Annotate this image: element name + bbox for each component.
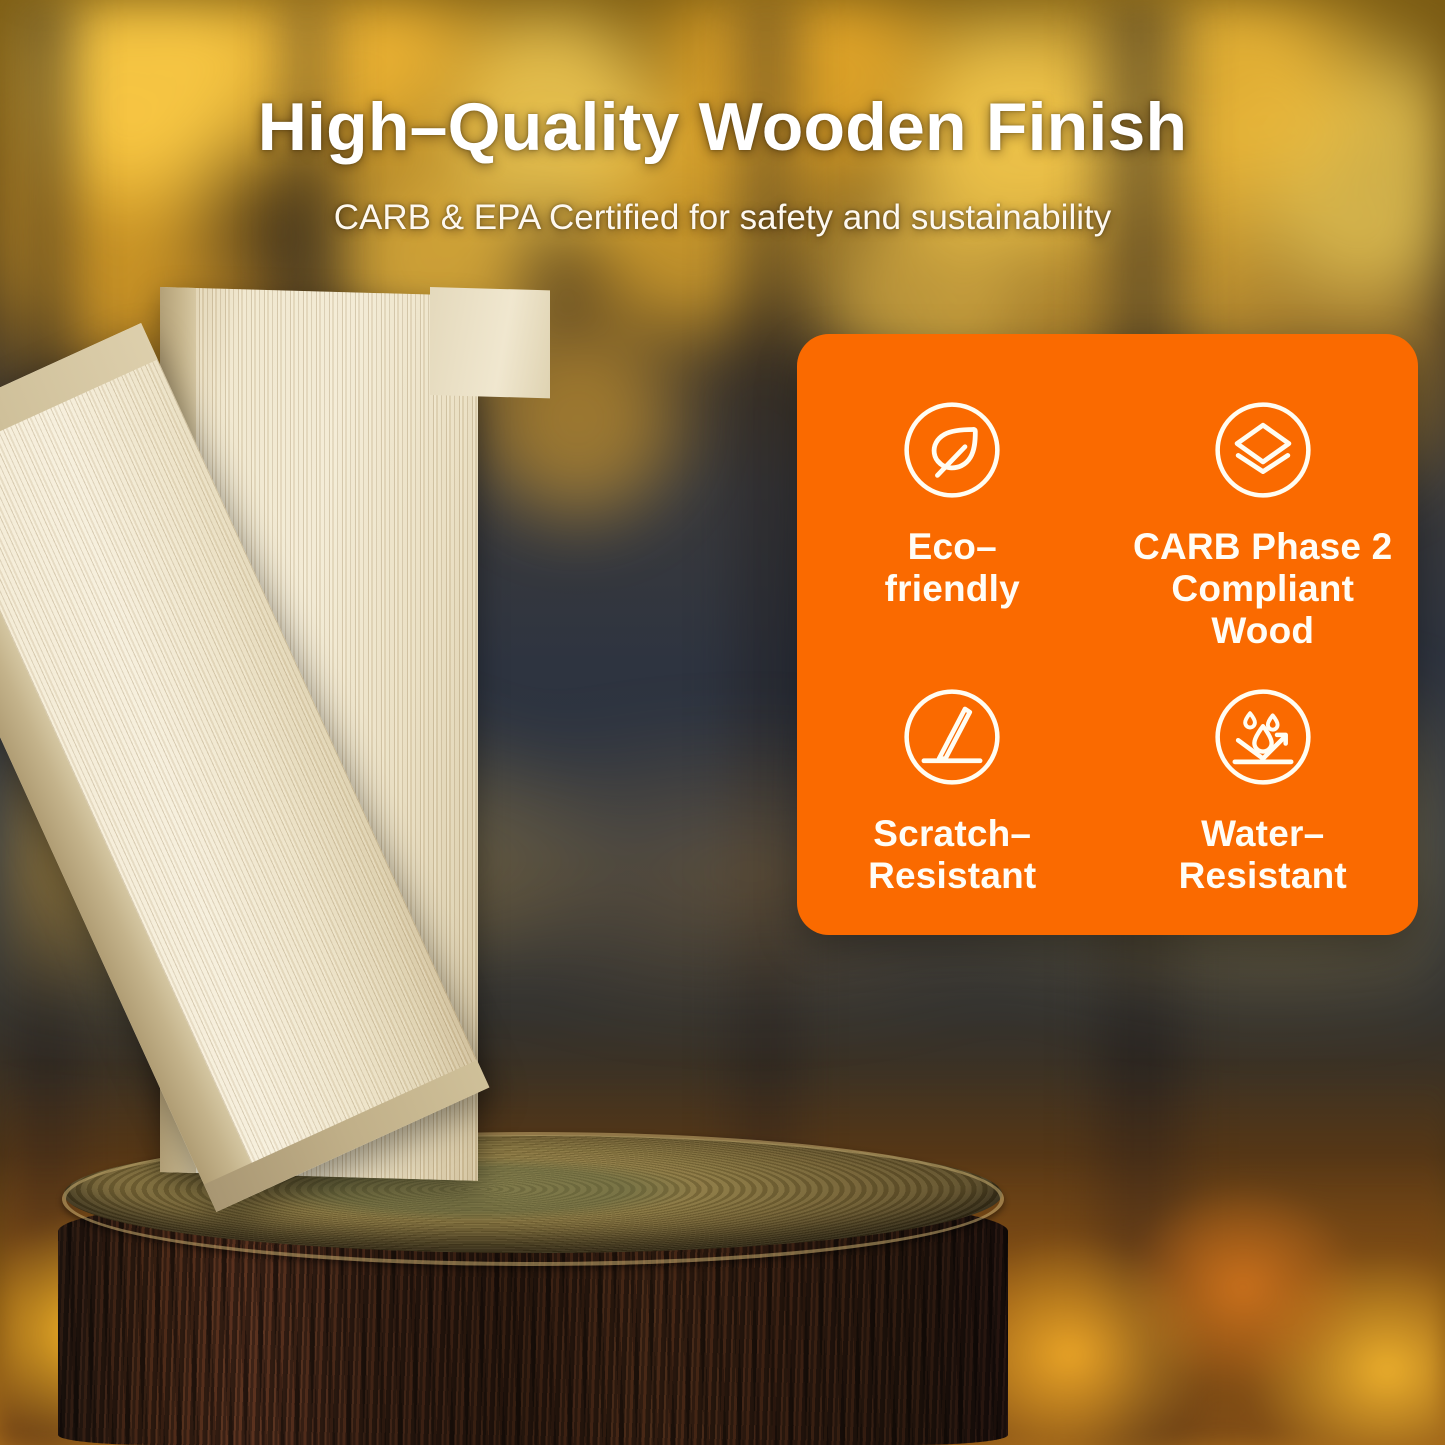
page-subtitle: CARB & EPA Certified for safety and sust… xyxy=(0,198,1445,238)
feature-label: CARB Phase 2Compliant Wood xyxy=(1128,526,1398,651)
product-marketing-image: High–Quality Wooden Finish CARB & EPA Ce… xyxy=(0,0,1445,1445)
scratch-resist-icon xyxy=(898,683,1006,791)
feature-carb-phase-2: CARB Phase 2Compliant Wood xyxy=(1108,334,1419,651)
feature-label: Eco–friendly xyxy=(885,526,1020,610)
water-resist-icon xyxy=(1209,683,1317,791)
tree-stump xyxy=(58,1135,1008,1445)
leaf-icon xyxy=(898,396,1006,504)
layers-icon xyxy=(1209,396,1317,504)
feature-card: Eco–friendly CARB Phase 2Compliant Wood … xyxy=(797,334,1418,935)
page-title: High–Quality Wooden Finish xyxy=(0,88,1445,166)
feature-label: Scratch–Resistant xyxy=(868,813,1036,897)
feature-water-resistant: Water–Resistant xyxy=(1108,651,1419,935)
feature-scratch-resistant: Scratch–Resistant xyxy=(797,651,1108,935)
feature-eco-friendly: Eco–friendly xyxy=(797,334,1108,651)
feature-label: Water–Resistant xyxy=(1179,813,1347,897)
wooden-plank-back-notch xyxy=(430,287,550,398)
